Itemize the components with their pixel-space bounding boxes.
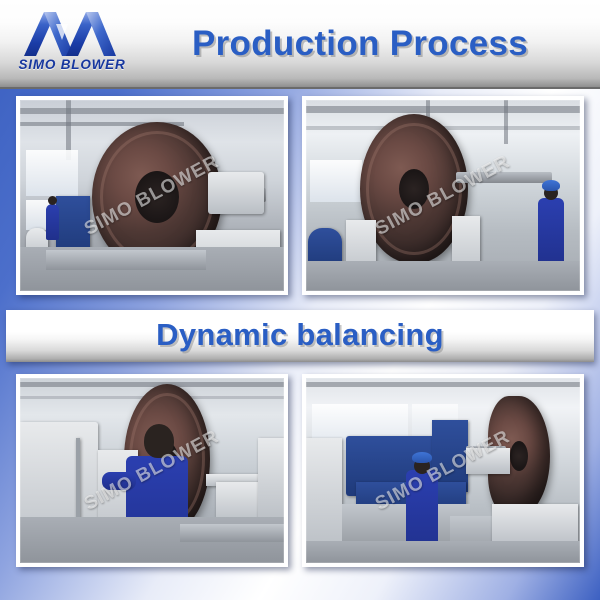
product-showcase-page: SIMO BLOWER Production Process xyxy=(0,0,600,600)
simo-blower-logo-icon xyxy=(22,10,118,58)
section-banner-dynamic-balancing: Dynamic balancing xyxy=(6,310,594,362)
photo-bottom-left[interactable]: SIMO BLOWER xyxy=(16,374,288,567)
dynamic-balancing-machine-scene xyxy=(306,378,580,563)
banner-title: Dynamic balancing xyxy=(156,317,444,353)
photo-top-left[interactable]: SIMO BLOWER xyxy=(16,96,288,295)
photo-bottom-right[interactable]: SIMO BLOWER xyxy=(302,374,584,567)
page-header: SIMO BLOWER Production Process xyxy=(0,0,600,89)
control-cabinet-scene xyxy=(20,378,284,563)
photo-top-right[interactable]: SIMO BLOWER xyxy=(302,96,584,295)
brand-name: SIMO BLOWER xyxy=(18,57,126,72)
page-title: Production Process xyxy=(130,0,590,87)
workshop-scene xyxy=(20,100,284,291)
brand-logo: SIMO BLOWER xyxy=(14,10,126,80)
balancing-stand-scene xyxy=(306,100,580,291)
